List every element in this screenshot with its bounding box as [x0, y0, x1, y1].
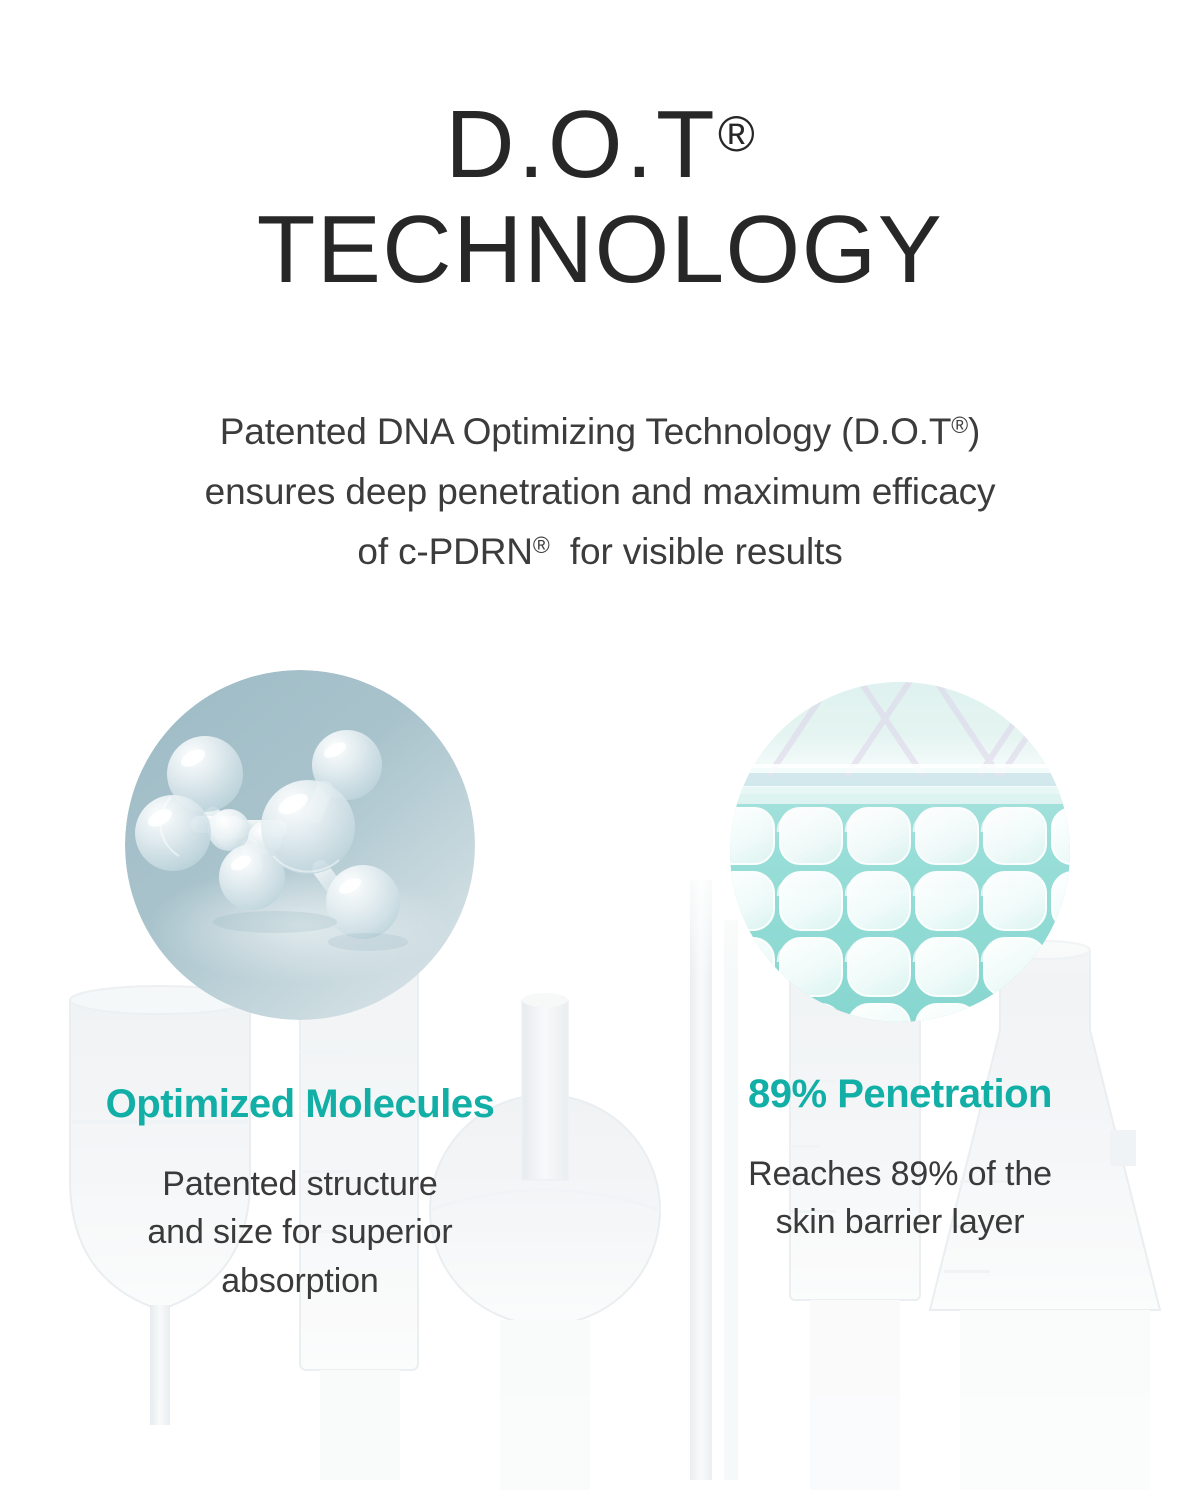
- subtitle-line-3: of c-PDRN® for visible results: [100, 522, 1100, 582]
- feature-body-line: and size for superior: [147, 1208, 452, 1256]
- feature-columns: Optimized Molecules Patented structure a…: [0, 670, 1200, 1305]
- feature-body-line: Patented structure: [147, 1160, 452, 1208]
- title-line-1: D.O.T®: [0, 96, 1200, 194]
- page-title: D.O.T® TECHNOLOGY: [0, 96, 1200, 302]
- registered-trademark-icon: ®: [533, 532, 550, 558]
- feature-heading-penetration: 89% Penetration: [748, 1072, 1052, 1116]
- subtitle-line-1-text: Patented DNA Optimizing Technology (D.O.…: [220, 411, 952, 452]
- subtitle-line-3-text: of c-PDRN: [357, 531, 532, 572]
- feature-penetration: 89% Penetration Reaches 89% of the skin …: [600, 670, 1200, 1305]
- title-main-text: D.O.T: [445, 91, 718, 198]
- registered-trademark-icon: ®: [951, 412, 968, 438]
- subtitle-paragraph: Patented DNA Optimizing Technology (D.O.…: [100, 402, 1100, 582]
- feature-body-optimized-molecules: Patented structure and size for superior…: [147, 1160, 452, 1305]
- feature-heading-optimized-molecules: Optimized Molecules: [106, 1082, 495, 1126]
- feature-body-line: Reaches 89% of the: [748, 1150, 1052, 1198]
- subtitle-line-1: Patented DNA Optimizing Technology (D.O.…: [100, 402, 1100, 462]
- feature-optimized-molecules: Optimized Molecules Patented structure a…: [0, 670, 600, 1305]
- feature-body-line: skin barrier layer: [748, 1198, 1052, 1246]
- subtitle-line-1-close: ): [968, 411, 980, 452]
- feature-body-line: absorption: [147, 1257, 452, 1305]
- title-line-2: TECHNOLOGY: [0, 198, 1200, 302]
- subtitle-line-3-rest: for visible results: [550, 531, 843, 572]
- dot-technology-infographic: D.O.T® TECHNOLOGY Patented DNA Optimizin…: [0, 0, 1200, 1500]
- molecule-illustration: [125, 670, 475, 1020]
- registered-trademark-icon: ®: [718, 106, 755, 162]
- skin-barrier-lattice-illustration: [730, 682, 1070, 1022]
- feature-body-penetration: Reaches 89% of the skin barrier layer: [748, 1150, 1052, 1247]
- subtitle-line-2: ensures deep penetration and maximum eff…: [100, 462, 1100, 522]
